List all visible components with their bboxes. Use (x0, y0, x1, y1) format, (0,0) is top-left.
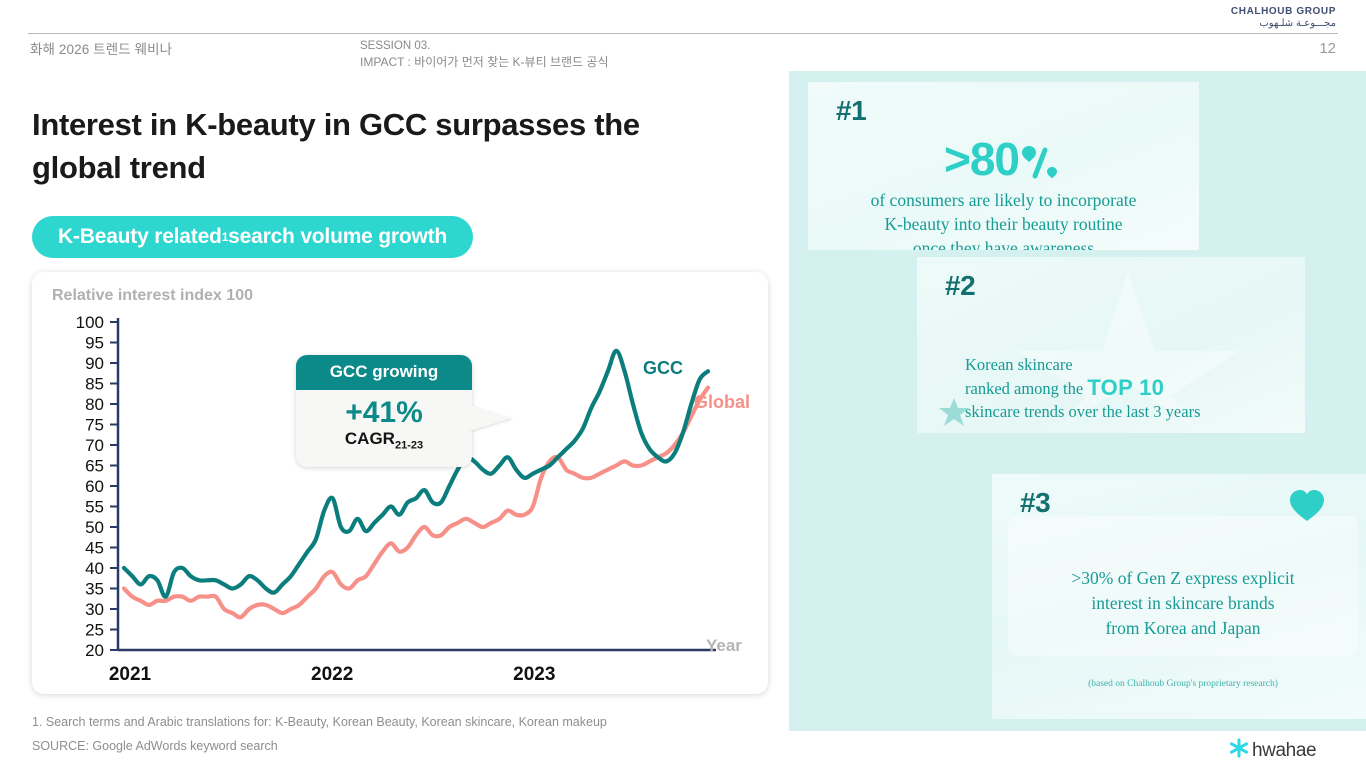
stat-card-1: #1 >80 of consumers are likely to incorp… (808, 82, 1199, 250)
header-session-info: SESSION 03. IMPACT : 바이어가 먼저 찾는 K-뷰티 브랜드… (360, 38, 609, 70)
heart-icon (1288, 488, 1326, 528)
svg-text:20: 20 (85, 641, 104, 660)
svg-text:80: 80 (85, 395, 104, 414)
svg-text:2022: 2022 (311, 664, 353, 685)
percent-heart-icon (1019, 133, 1063, 185)
header-divider (28, 33, 1338, 34)
footnotes: 1. Search terms and Arabic translations … (32, 710, 607, 758)
stat-card-2: #2 Korean skincare ranked among the TOP … (917, 257, 1305, 433)
svg-text:30: 30 (85, 600, 104, 619)
hwahae-asterisk-icon (1229, 738, 1249, 763)
series-label-global: Global (694, 392, 750, 413)
stat-card-2-highlight: TOP 10 (1087, 375, 1164, 400)
stat-card-1-value: >80 (944, 133, 1019, 185)
callout-header: GCC growing (296, 355, 472, 390)
svg-text:60: 60 (85, 477, 104, 496)
svg-text:2023: 2023 (513, 664, 555, 685)
stat-card-3-line-1: >30% of Gen Z express explicit (992, 566, 1366, 591)
svg-text:2021: 2021 (109, 664, 152, 685)
section-banner: K-Beauty related1 search volume growth (32, 216, 473, 258)
stat-card-2-line-2: ranked among the TOP 10 (965, 376, 1295, 400)
stat-card-3-index: #3 (1020, 487, 1050, 519)
stat-card-2-line-1: Korean skincare (965, 353, 1295, 376)
stat-card-1-body: of consumers are likely to incorporate K… (808, 188, 1199, 250)
cagr-callout: GCC growing +41% CAGR21-23 (296, 355, 472, 467)
callout-metric: CAGR21-23 (296, 429, 472, 455)
svg-text:25: 25 (85, 621, 104, 640)
brand-name-text: CHALHOUB GROUP (1231, 6, 1336, 17)
stat-card-3-source-note: (based on Chalhoub Group's proprietary r… (992, 679, 1366, 689)
star-icon (939, 397, 969, 432)
callout-metric-period: 21-23 (395, 439, 423, 451)
stat-card-1-line-3: once they have awareness (808, 236, 1199, 250)
callout-metric-label: CAGR (345, 429, 395, 448)
stat-card-3: #3 >30% of Gen Z express explicit intere… (992, 474, 1366, 719)
svg-text:95: 95 (85, 334, 104, 353)
header-webinar-title: 화해 2026 트렌드 웨비나 (30, 38, 172, 58)
svg-text:70: 70 (85, 436, 104, 455)
callout-tail (470, 405, 512, 431)
stat-card-2-line-3: skincare trends over the last 3 years (965, 400, 1295, 423)
axis-label-year: Year (706, 636, 742, 656)
chart-card: Relative interest index 100 100959085807… (32, 272, 768, 694)
stat-card-1-index: #1 (836, 95, 866, 127)
stat-card-3-line-3: from Korea and Japan (992, 616, 1366, 641)
stat-card-2-body: Korean skincare ranked among the TOP 10 … (965, 353, 1295, 423)
stat-card-1-line-1: of consumers are likely to incorporate (808, 188, 1199, 212)
hwahae-wordmark: hwahae (1252, 740, 1316, 762)
stat-card-2-index: #2 (945, 270, 975, 302)
search-volume-line-chart: 1009590858075706560555045403530252020212… (32, 272, 768, 694)
session-number: SESSION 03. (360, 38, 609, 54)
brand-name-arabic: مجـــوعـة شلـهوب (1231, 18, 1336, 29)
page-title: Interest in K-beauty in GCC surpasses th… (32, 103, 712, 189)
svg-text:85: 85 (85, 375, 104, 394)
stat-card-1-big-stat: >80 (808, 132, 1199, 186)
footnote-1: 1. Search terms and Arabic translations … (32, 710, 607, 734)
page-number: 12 (1319, 40, 1336, 57)
svg-text:50: 50 (85, 518, 104, 537)
stat-card-2-line-2-text: ranked among the (965, 379, 1083, 398)
session-subtitle: IMPACT : 바이어가 먼저 찾는 K-뷰티 브랜드 공식 (360, 54, 609, 70)
svg-text:45: 45 (85, 539, 104, 558)
svg-text:40: 40 (85, 559, 104, 578)
callout-value: +41% (296, 396, 472, 429)
hwahae-logo: hwahae (1229, 738, 1316, 763)
stat-card-1-line-2: K-beauty into their beauty routine (808, 212, 1199, 236)
stats-panel: #1 >80 of consumers are likely to incorp… (789, 71, 1366, 731)
stat-card-3-line-2: interest in skincare brands (992, 591, 1366, 616)
svg-text:55: 55 (85, 498, 104, 517)
footnote-source: SOURCE: Google AdWords keyword search (32, 734, 607, 758)
svg-text:65: 65 (85, 457, 104, 476)
section-banner-label: K-Beauty related (58, 225, 222, 249)
chalhoub-group-logo: CHALHOUB GROUP مجـــوعـة شلـهوب (1231, 6, 1336, 29)
section-banner-label-suffix: search volume growth (228, 225, 447, 249)
stat-card-3-body: >30% of Gen Z express explicit interest … (992, 566, 1366, 641)
callout-body: +41% CAGR21-23 (296, 390, 472, 467)
svg-text:100: 100 (76, 313, 104, 332)
series-label-gcc: GCC (643, 358, 683, 379)
svg-text:90: 90 (85, 354, 104, 373)
svg-text:75: 75 (85, 416, 104, 435)
svg-text:35: 35 (85, 580, 104, 599)
